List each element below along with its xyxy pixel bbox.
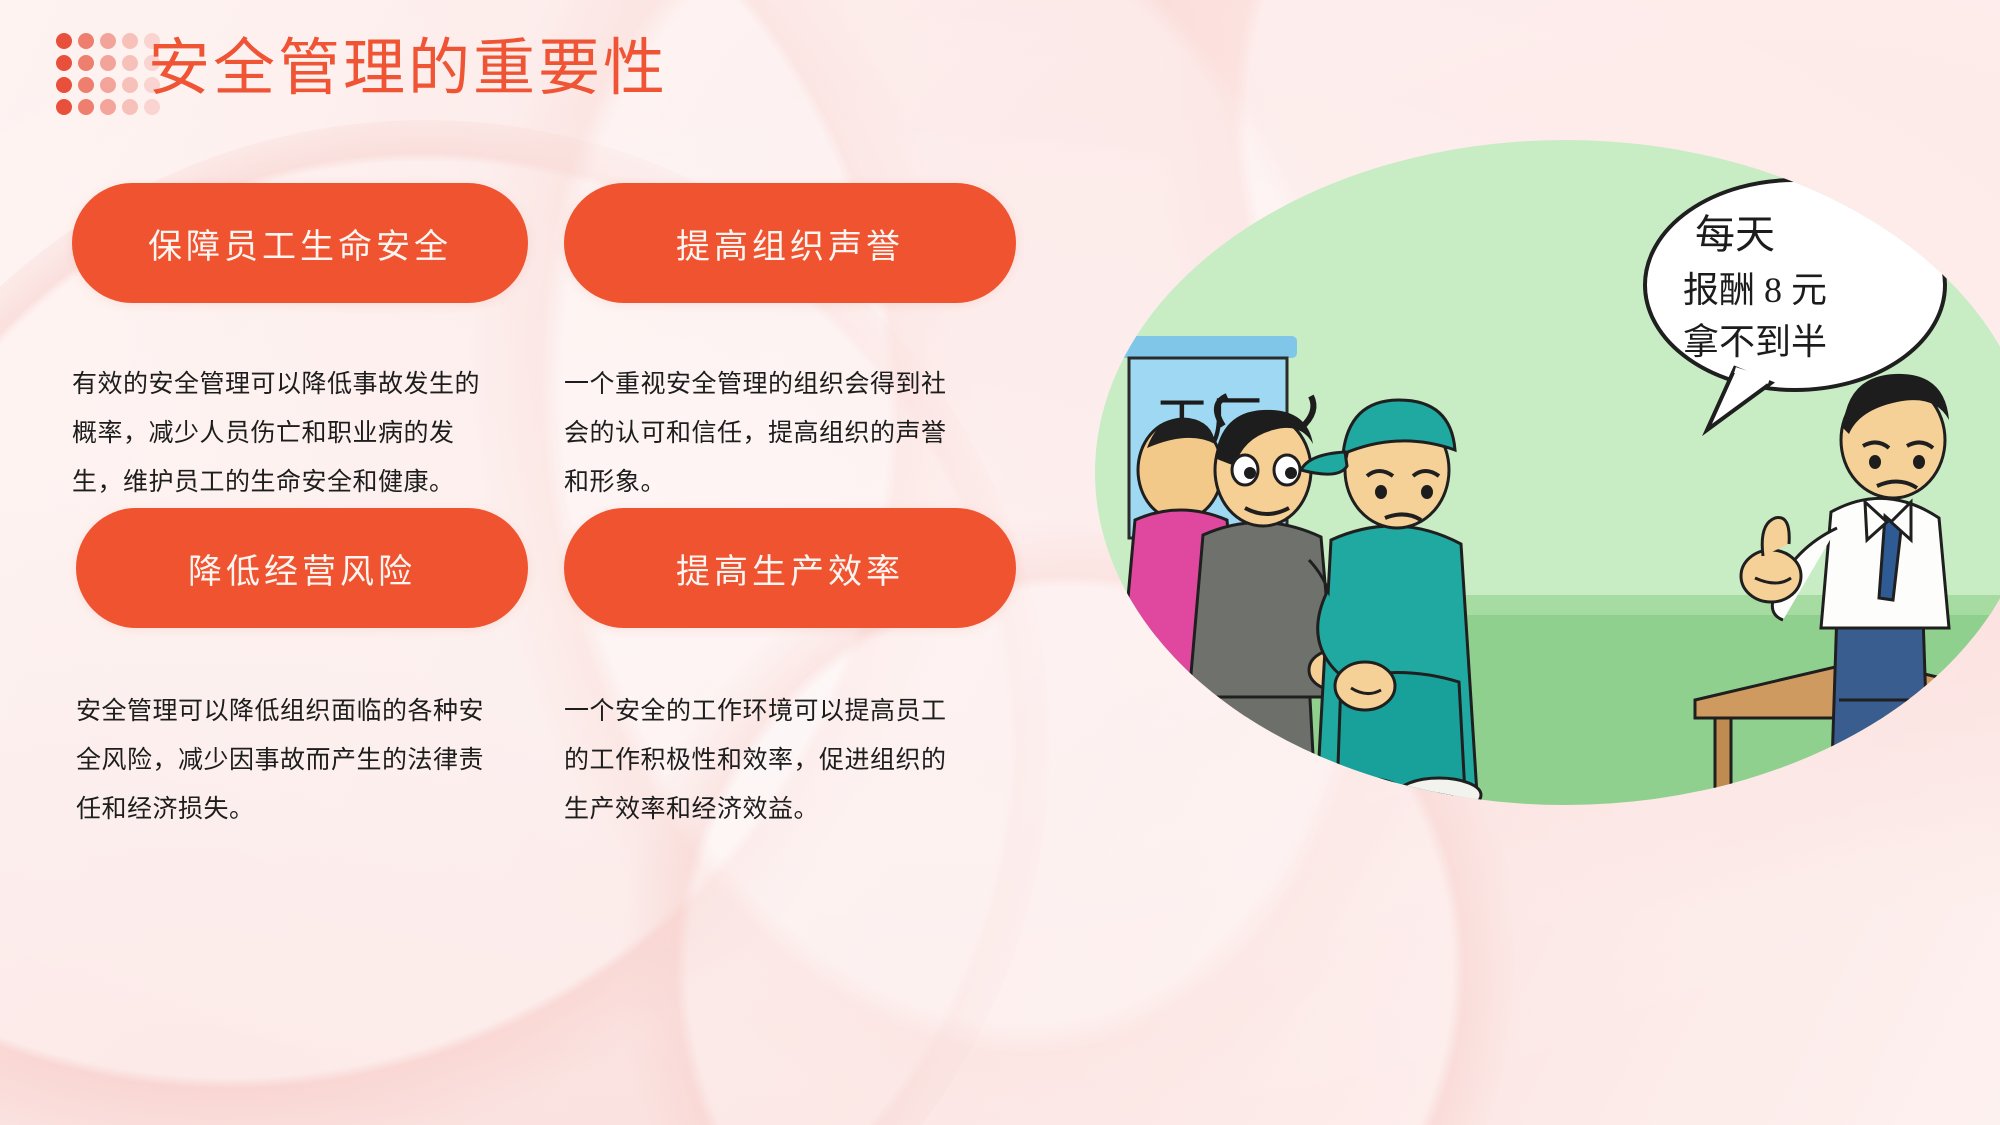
- card-1-pill[interactable]: 保障员工生命安全: [72, 183, 528, 303]
- svg-text:拿不到半: 拿不到半: [1683, 322, 1827, 362]
- svg-text:报酬 8 元: 报酬 8 元: [1683, 270, 1827, 310]
- card-1-label: 保障员工生命安全: [148, 219, 452, 268]
- card-2-label: 提高组织声誉: [676, 219, 904, 268]
- card-3-pill[interactable]: 降低经营风险: [76, 508, 528, 628]
- card-4-pill[interactable]: 提高生产效率: [564, 508, 1016, 628]
- card-improve-reputation: 提高组织声誉 一个重视安全管理的组织会得到社会的认可和信任，提高组织的声誉和形象…: [564, 183, 1016, 507]
- card-guarantee-employee-safety: 保障员工生命安全 有效的安全管理可以降低事故发生的概率，减少人员伤亡和职业病的发…: [72, 183, 528, 507]
- slide-header: 安全管理的重要性: [0, 0, 2000, 150]
- card-reduce-business-risk: 降低经营风险 安全管理可以降低组织面临的各种安全风险，减少因事故而产生的法律责任…: [76, 508, 528, 834]
- card-3-body: 安全管理可以降低组织面临的各种安全风险，减少因事故而产生的法律责任和经济损失。: [76, 688, 494, 834]
- factory-workers-cartoon-illustration: 工厂 每天 报酬 8 元 拿不到半: [1095, 140, 2000, 805]
- card-2-pill[interactable]: 提高组织声誉: [564, 183, 1016, 303]
- card-1-body: 有效的安全管理可以降低事故发生的概率，减少人员伤亡和职业病的发生，维护员工的生命…: [72, 361, 504, 507]
- svg-text:每天: 每天: [1695, 212, 1775, 257]
- page-title: 安全管理的重要性: [148, 38, 668, 100]
- card-3-label: 降低经营风险: [188, 544, 416, 593]
- card-2-body: 一个重视安全管理的组织会得到社会的认可和信任，提高组织的声誉和形象。: [564, 361, 970, 507]
- card-improve-productivity: 提高生产效率 一个安全的工作环境可以提高员工的工作积极性和效率，促进组织的生产效…: [564, 508, 1016, 834]
- card-4-label: 提高生产效率: [676, 544, 904, 593]
- card-4-body: 一个安全的工作环境可以提高员工的工作积极性和效率，促进组织的生产效率和经济效益。: [564, 688, 970, 834]
